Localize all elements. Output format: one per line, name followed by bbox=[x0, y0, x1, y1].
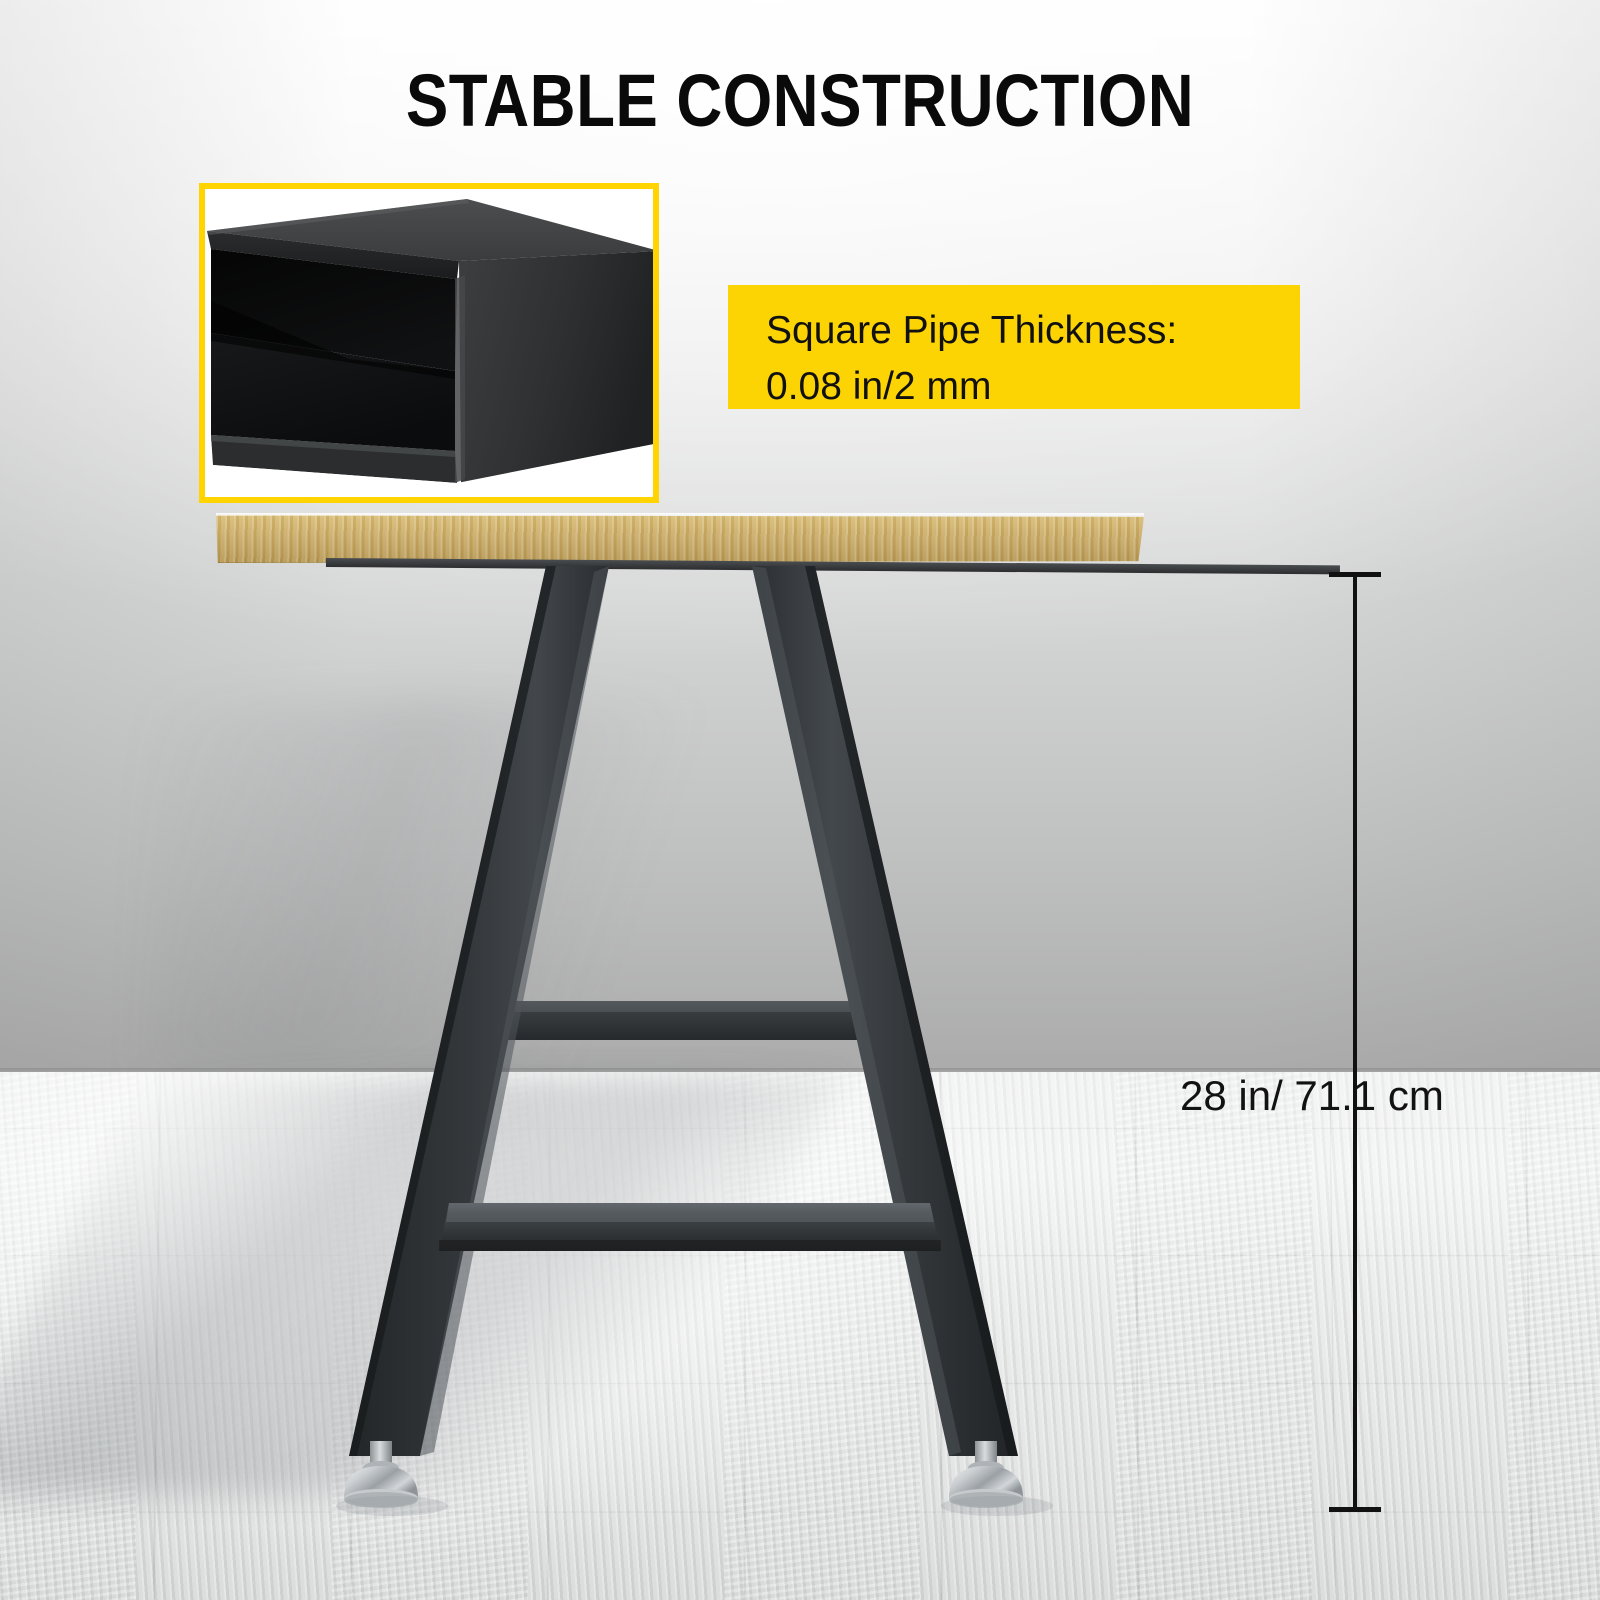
cross-brace-lower bbox=[439, 1203, 941, 1251]
dimension-line bbox=[1353, 572, 1357, 1512]
dimension-label: 28 in/ 71.1 cm bbox=[1180, 1072, 1580, 1120]
a-frame-leg-assembly bbox=[0, 0, 1600, 1600]
product-feature-image: STABLE CONSTRUCTION bbox=[0, 0, 1600, 1600]
dimension-cap-bottom bbox=[1329, 1507, 1381, 1512]
